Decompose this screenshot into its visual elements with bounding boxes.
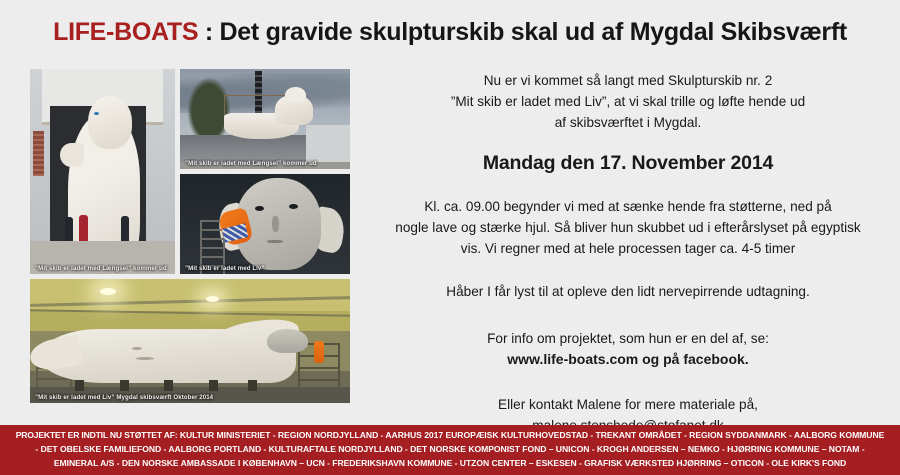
photo-sculpture-in-shed: ”Mit skib er ladet med Længsel” kommer u… <box>30 69 175 274</box>
poster-root: LIFE-BOATS : Det gravide skulpturskib sk… <box>0 0 900 475</box>
details-line-1: Kl. ca. 09.00 begynder vi med at sænke h… <box>366 196 890 217</box>
poster-body-text: Nu er vi kommet så langt med Skulpturski… <box>366 70 890 436</box>
photo-worker-painting-face: ”Mit skib er ladet med Liv” <box>180 174 350 274</box>
photo-sculpture-lifted-outdoors: ”Mit skib er ladet med Længsel” kommer u… <box>180 69 350 169</box>
photo-2-artwork <box>180 69 350 169</box>
sponsor-names-1: KULTUR MINISTERIET - REGION NORDJYLLAND … <box>180 430 884 440</box>
info-block: For info om projektet, som hun er en del… <box>366 328 890 370</box>
sponsor-lead-label: PROJEKTET ER INDTIL NU STØTTET AF: <box>16 430 178 440</box>
details-line-2: nogle lave og stærke hjul. Så bliver hun… <box>366 217 890 238</box>
details-line-3: vis. Vi regner med at hele processen tag… <box>366 238 890 259</box>
hope-line: Håber I får lyst til at opleve den lidt … <box>366 281 890 302</box>
sponsor-line-1: PROJEKTET ER INDTIL NU STØTTET AF: KULTU… <box>0 428 900 442</box>
photo-1-caption: ”Mit skib er ladet med Længsel” kommer u… <box>30 264 175 274</box>
info-label: For info om projektet, som hun er en del… <box>366 328 890 349</box>
intro-line-2: ”Mit skib er ladet med Liv”, at vi skal … <box>366 91 890 112</box>
intro-line-3: af skibsværftet i Mygdal. <box>366 112 890 133</box>
sponsor-line-2: - DET OBELSKE FAMILIEFOND - AALBORG PORT… <box>0 442 900 456</box>
title-brand: LIFE-BOATS <box>53 18 198 46</box>
contact-label: Eller kontakt Malene for mere materiale … <box>366 394 890 415</box>
sponsor-banner: PROJEKTET ER INDTIL NU STØTTET AF: KULTU… <box>0 425 900 475</box>
details-paragraph: Kl. ca. 09.00 begynder vi med at sænke h… <box>366 196 890 259</box>
page-title: LIFE-BOATS : Det gravide skulpturskib sk… <box>0 18 900 47</box>
project-website-link[interactable]: www.life-boats.com og på facebook. <box>366 349 890 370</box>
intro-line-1: Nu er vi kommet så langt med Skulpturski… <box>366 70 890 91</box>
photo-4-artwork <box>30 279 350 403</box>
title-rest: : Det gravide skulpturskib skal ud af My… <box>198 18 847 46</box>
photo-full-ship-in-hall: ”Mit skib er ladet med Liv” Mygdal skibs… <box>30 279 350 403</box>
sponsor-line-3: EMINERAL A/S - DEN NORSKE AMBASSADE I KØ… <box>0 456 900 470</box>
photo-3-caption: ”Mit skib er ladet med Liv” <box>180 264 350 274</box>
photo-collage: ”Mit skib er ladet med Længsel” kommer u… <box>30 69 350 403</box>
photo-4-caption: ”Mit skib er ladet med Liv” Mygdal skibs… <box>30 393 350 403</box>
photo-3-artwork <box>180 174 350 274</box>
photo-2-caption: ”Mit skib er ladet med Længsel” kommer u… <box>180 159 350 169</box>
intro-paragraph: Nu er vi kommet så langt med Skulpturski… <box>366 70 890 133</box>
event-date: Mandag den 17. November 2014 <box>366 152 890 175</box>
photo-1-artwork <box>30 69 175 274</box>
